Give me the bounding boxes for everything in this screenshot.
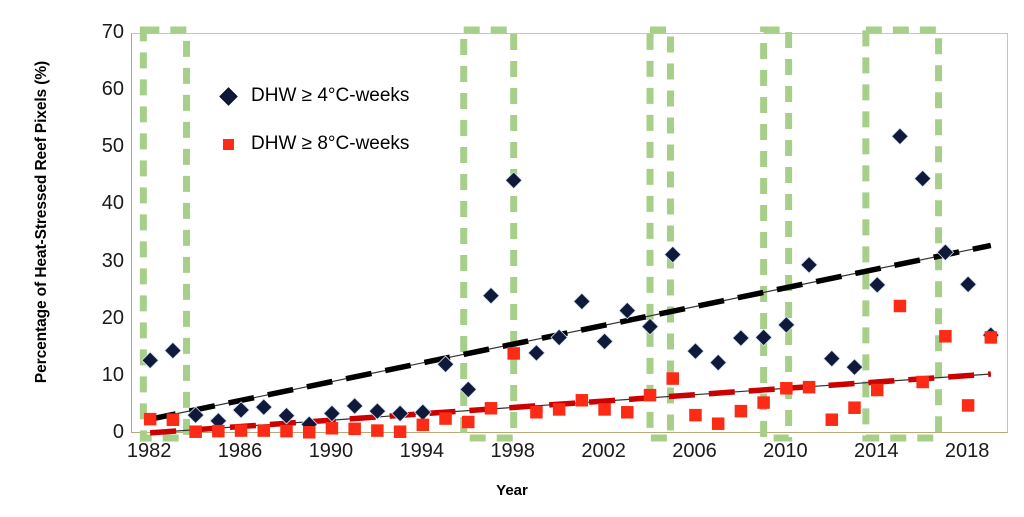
y-tick-label: 0 xyxy=(64,422,124,442)
y-tick-label: 30 xyxy=(64,251,124,271)
y-tick-label: 20 xyxy=(64,308,124,328)
data-point-square xyxy=(507,347,519,360)
data-point-diamond xyxy=(801,257,817,273)
data-point-square xyxy=(144,413,157,426)
data-point-diamond xyxy=(505,172,521,188)
data-point-square xyxy=(212,425,225,438)
y-tick-label: 60 xyxy=(64,79,124,99)
legend-item-dhw4: DHW ≥ 4°C-weeks xyxy=(205,72,409,120)
chart-figure: Percentage of Heat-Stressed Reef Pixels … xyxy=(0,0,1024,517)
y-tick-label: 10 xyxy=(64,365,124,385)
x-tick-label: 1982 xyxy=(109,441,189,461)
square-marker-icon xyxy=(205,139,251,150)
data-point-square xyxy=(826,413,839,426)
data-point-square xyxy=(894,300,907,313)
data-point-square xyxy=(303,426,316,439)
data-point-square xyxy=(666,372,679,385)
data-point-square xyxy=(689,409,702,422)
y-tick-label: 70 xyxy=(64,22,124,42)
y-tick-label: 50 xyxy=(64,136,124,156)
data-point-square xyxy=(871,384,884,397)
data-point-square xyxy=(576,394,589,407)
x-tick-label: 2002 xyxy=(564,441,644,461)
data-point-square xyxy=(757,396,770,409)
data-point-diamond xyxy=(346,398,362,414)
data-point-square xyxy=(939,330,952,343)
x-tick-label: 2018 xyxy=(927,441,1007,461)
data-point-square xyxy=(712,417,725,430)
x-tick-label: 1986 xyxy=(200,441,280,461)
data-point-diamond xyxy=(755,329,771,345)
x-tick-label: 2014 xyxy=(836,441,916,461)
highlight-box xyxy=(464,30,514,438)
data-point-square xyxy=(235,424,248,437)
data-point-diamond xyxy=(256,399,272,415)
data-point-square xyxy=(530,406,543,419)
chart-legend: DHW ≥ 4°C-weeks DHW ≥ 8°C-weeks xyxy=(205,72,409,168)
highlight-box xyxy=(143,30,186,438)
data-point-diamond xyxy=(687,343,703,359)
data-point-square xyxy=(371,424,384,437)
data-point-diamond xyxy=(733,330,749,346)
data-point-diamond xyxy=(710,354,726,370)
y-axis-tick-labels: 706050403020100 xyxy=(38,0,124,517)
data-point-square xyxy=(258,424,271,437)
data-point-square xyxy=(916,376,929,389)
x-axis-title: Year xyxy=(0,482,1024,499)
y-tick-label: 40 xyxy=(64,193,124,213)
data-point-diamond xyxy=(960,276,976,292)
data-point-square xyxy=(735,405,748,418)
data-point-diamond xyxy=(824,350,840,366)
data-point-diamond xyxy=(165,342,181,358)
data-point-square xyxy=(485,402,498,415)
data-point-diamond xyxy=(415,404,431,420)
legend-item-dhw8: DHW ≥ 8°C-weeks xyxy=(205,120,409,168)
data-point-diamond xyxy=(596,333,612,349)
data-point-diamond xyxy=(574,293,590,309)
data-point-square xyxy=(167,413,180,426)
x-tick-label: 1998 xyxy=(473,441,553,461)
legend-label-dhw4: DHW ≥ 4°C-weeks xyxy=(251,85,409,107)
data-point-diamond xyxy=(892,128,908,144)
diamond-marker-icon xyxy=(205,90,251,103)
data-point-square xyxy=(462,416,475,429)
data-point-square xyxy=(962,399,975,412)
data-point-square xyxy=(394,425,407,438)
data-point-diamond xyxy=(392,405,408,421)
data-point-square xyxy=(189,425,202,438)
data-point-square xyxy=(598,403,611,416)
highlight-box xyxy=(764,30,789,438)
data-point-square xyxy=(439,412,452,425)
data-point-diamond xyxy=(619,302,635,318)
data-point-diamond xyxy=(869,277,885,293)
data-point-diamond xyxy=(914,170,930,186)
data-point-square xyxy=(280,425,293,438)
data-point-square xyxy=(985,331,998,344)
data-point-square xyxy=(621,406,634,419)
legend-label-dhw8: DHW ≥ 8°C-weeks xyxy=(251,133,409,155)
data-point-square xyxy=(848,401,861,414)
x-tick-label: 1990 xyxy=(291,441,371,461)
data-point-diamond xyxy=(846,359,862,375)
data-point-diamond xyxy=(483,288,499,304)
data-point-square xyxy=(803,381,816,394)
data-point-diamond xyxy=(528,345,544,361)
data-point-square xyxy=(326,422,339,435)
data-point-square xyxy=(553,403,566,416)
x-tick-label: 1994 xyxy=(382,441,462,461)
data-point-square xyxy=(348,423,361,436)
x-tick-label: 2006 xyxy=(654,441,734,461)
data-point-square xyxy=(780,382,793,395)
x-tick-label: 2010 xyxy=(745,441,825,461)
data-point-square xyxy=(644,389,657,402)
data-point-square xyxy=(417,419,430,432)
data-point-diamond xyxy=(642,318,658,334)
